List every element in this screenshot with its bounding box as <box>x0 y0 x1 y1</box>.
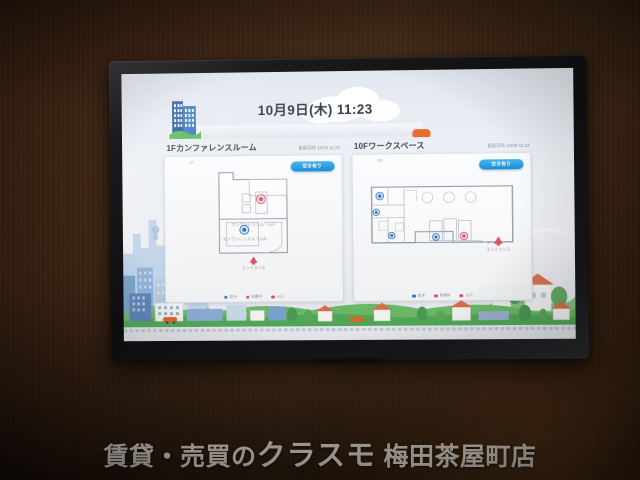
panel-updated-workspace: 更新日時 10/09 11:23 <box>487 143 529 150</box>
panel-workspace[interactable]: 10Fワークスペース 更新日時 10/09 11:23 10F 空き有り <box>351 139 533 309</box>
floorplan-workspace[interactable]: エントランス <box>351 164 532 274</box>
building-icon <box>169 97 201 139</box>
updated-value-conference: 10/09 11:23 <box>317 145 340 150</box>
tv-screen: 10月9日(木) 11:23 1Fカンファレンスルーム 更新日時 10/09 1… <box>121 68 575 341</box>
base-divider <box>124 327 576 333</box>
header-datetime: 10月9日(木) 11:23 <box>217 97 415 119</box>
watermark-brand: クラスモ <box>257 440 376 472</box>
panel-conference-room[interactable]: 1Fカンファレンスルーム 更新日時 10/09 11:23 1F 空き有り <box>163 141 343 310</box>
panel-title-workspace: 10Fワークスペース <box>354 140 425 152</box>
entrance-label-workspace: エントランス <box>486 247 510 252</box>
panel-body-conference: 1F 空き有り <box>164 154 344 303</box>
entrance-label-conference: エントランス <box>242 265 266 270</box>
updated-label-conference: 更新日時 <box>298 145 316 150</box>
signage-header: 10月9日(木) 11:23 <box>169 96 422 139</box>
watermark-store: 梅田茶屋町店 <box>383 443 536 471</box>
panel-sub-workspace: 10F <box>377 159 383 163</box>
panel-updated-conference: 更新日時 10/09 11:23 <box>298 145 340 151</box>
panel-body-workspace: 10F 空き有り <box>351 152 533 302</box>
watermark-prefix: 賃貸・売買の <box>104 443 257 471</box>
header-bar <box>169 123 422 139</box>
floorplan-conference[interactable]: カンファレンスルームA カンファレンスルームB <box>164 166 343 275</box>
panel-sub-conference: 1F <box>189 161 193 165</box>
photo-scene: 10月9日(木) 11:23 1Fカンファレンスルーム 更新日時 10/09 1… <box>0 0 640 480</box>
panel-title-conference: 1Fカンファレンスルーム <box>166 142 256 154</box>
updated-value-workspace: 10/09 11:23 <box>506 143 529 148</box>
tv-stand <box>313 358 383 363</box>
updated-label-workspace: 更新日時 <box>487 143 505 148</box>
car-icon <box>412 129 430 137</box>
room-label-conference-b: カンファレンスルームB <box>223 236 267 241</box>
signage-page: 10月9日(木) 11:23 1Fカンファレンスルーム 更新日時 10/09 1… <box>121 68 575 341</box>
photo-watermark: 賃貸・売買のクラスモ 梅田茶屋町店 <box>0 432 640 474</box>
wall-mounted-display: 10月9日(木) 11:23 1Fカンファレンスルーム 更新日時 10/09 1… <box>108 55 589 362</box>
town-illustration <box>123 284 575 327</box>
